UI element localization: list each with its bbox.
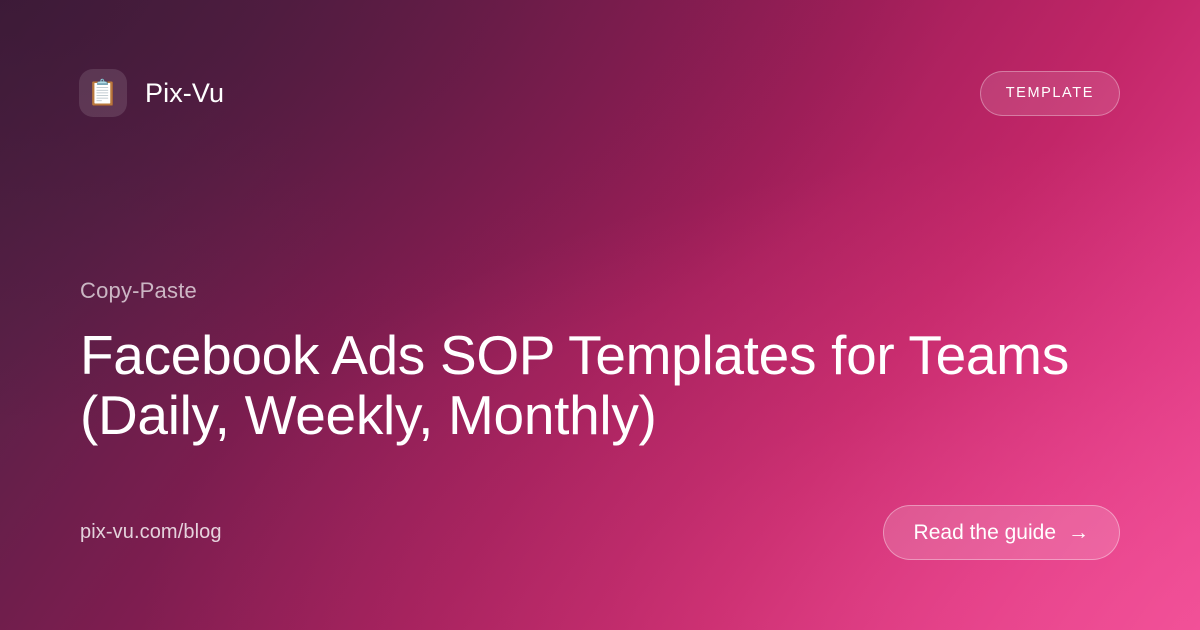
- page-title: Facebook Ads SOP Templates for Teams (Da…: [80, 326, 1120, 446]
- card-footer: pix-vu.com/blog Read the guide →: [80, 505, 1120, 560]
- card-content: Copy-Paste Facebook Ads SOP Templates fo…: [80, 278, 1120, 446]
- eyebrow-label: Copy-Paste: [80, 278, 1120, 304]
- og-share-card: 📋 Pix-Vu TEMPLATE Copy-Paste Facebook Ad…: [0, 0, 1200, 630]
- clipboard-icon: 📋: [79, 69, 127, 117]
- brand-lockup[interactable]: 📋 Pix-Vu: [79, 69, 224, 117]
- brand-name: Pix-Vu: [145, 78, 224, 109]
- arrow-right-icon: →: [1068, 522, 1089, 543]
- read-the-guide-button[interactable]: Read the guide →: [883, 505, 1120, 560]
- card-header: 📋 Pix-Vu TEMPLATE: [79, 69, 1120, 117]
- status-badge: TEMPLATE: [980, 71, 1120, 116]
- cta-label: Read the guide: [914, 521, 1056, 545]
- site-url: pix-vu.com/blog: [80, 521, 222, 544]
